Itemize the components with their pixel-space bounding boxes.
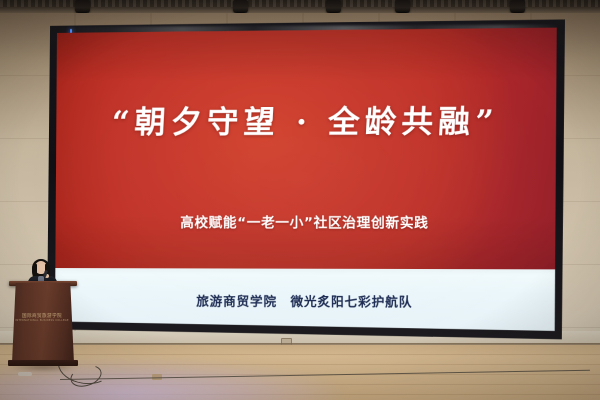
stage-spotlight-icon xyxy=(326,0,341,13)
stage-spotlight-icon xyxy=(510,0,525,13)
stage-spotlight-icon xyxy=(75,0,90,13)
podium-plaque-en: INTERNATIONAL BUSINESS COLLEGE xyxy=(15,319,68,322)
stage-spotlight-icon xyxy=(233,0,248,13)
presentation-slide: “朝夕守望 · 全龄共融” 高校赋能“一老一小”社区治理创新实践 旅游商贸学院 … xyxy=(55,28,557,334)
led-screen[interactable]: “朝夕守望 · 全龄共融” 高校赋能“一老一小”社区治理创新实践 旅游商贸学院 … xyxy=(47,19,565,342)
podium-plaque: 国际商贸旅游学院 INTERNATIONAL BUSINESS COLLEGE xyxy=(13,311,71,325)
auditorium-scene: “朝夕守望 · 全龄共融” 高校赋能“一老一小”社区治理创新实践 旅游商贸学院 … xyxy=(0,0,600,400)
slide-red-background xyxy=(55,28,557,270)
mic-stand-base xyxy=(18,372,32,376)
slide-subtitle: 高校赋能“一老一小”社区治理创新实践 xyxy=(55,211,557,232)
slide-title: “朝夕守望 · 全龄共融” xyxy=(55,107,557,139)
podium-shadow xyxy=(4,364,84,372)
stage-spotlight-icon xyxy=(395,0,410,13)
